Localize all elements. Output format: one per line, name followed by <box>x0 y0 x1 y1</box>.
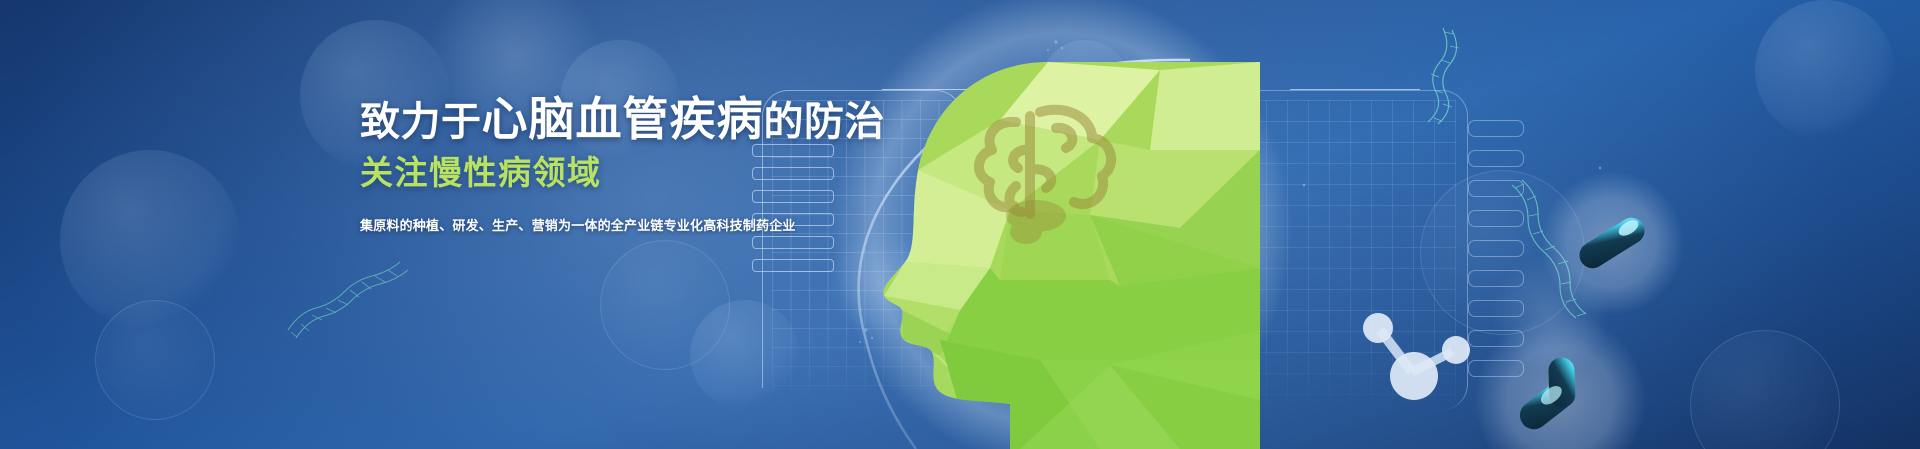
headline-emphasis: 心脑血管疾病 <box>482 93 764 145</box>
bokeh-circle <box>1690 330 1840 449</box>
page-tagline: 集原料的种植、研发、生产、营销为一体的全产业链专业化高科技制药企业 <box>360 217 780 235</box>
hero-banner: 致力于心脑血管疾病的防治 关注慢性病领域 集原料的种植、研发、生产、营销为一体的… <box>0 0 1920 449</box>
hud-pill <box>1468 300 1524 317</box>
hud-pill <box>1468 330 1524 347</box>
bokeh-circle <box>60 150 240 330</box>
page-subtitle: 关注慢性病领域 <box>360 153 780 193</box>
hud-pill-list-right <box>1468 120 1524 390</box>
hud-pill <box>1468 360 1524 377</box>
headline-lead: 致力于 <box>360 100 482 144</box>
bokeh-circle <box>600 240 730 370</box>
hud-pill <box>752 190 834 203</box>
hud-pill-list <box>752 144 834 282</box>
hud-pill <box>752 167 834 180</box>
hud-pill <box>752 144 834 157</box>
hud-pill <box>1468 270 1524 287</box>
hud-pill <box>1468 150 1524 167</box>
page-title: 致力于心脑血管疾病的防治 <box>360 96 780 145</box>
bokeh-circle <box>95 300 215 420</box>
hero-copy: 致力于心脑血管疾病的防治 关注慢性病领域 集原料的种植、研发、生产、营销为一体的… <box>360 96 780 235</box>
hud-pill <box>1468 210 1524 227</box>
hud-panel-left <box>762 58 1202 388</box>
hud-grid-right <box>1182 100 1456 400</box>
hud-pill <box>752 213 834 226</box>
hud-pill <box>1468 180 1524 197</box>
bokeh-circle <box>1755 0 1895 140</box>
hud-pill <box>1468 240 1524 257</box>
hud-pill <box>752 236 834 249</box>
hud-pill <box>752 259 834 272</box>
hud-pill <box>1468 120 1524 137</box>
